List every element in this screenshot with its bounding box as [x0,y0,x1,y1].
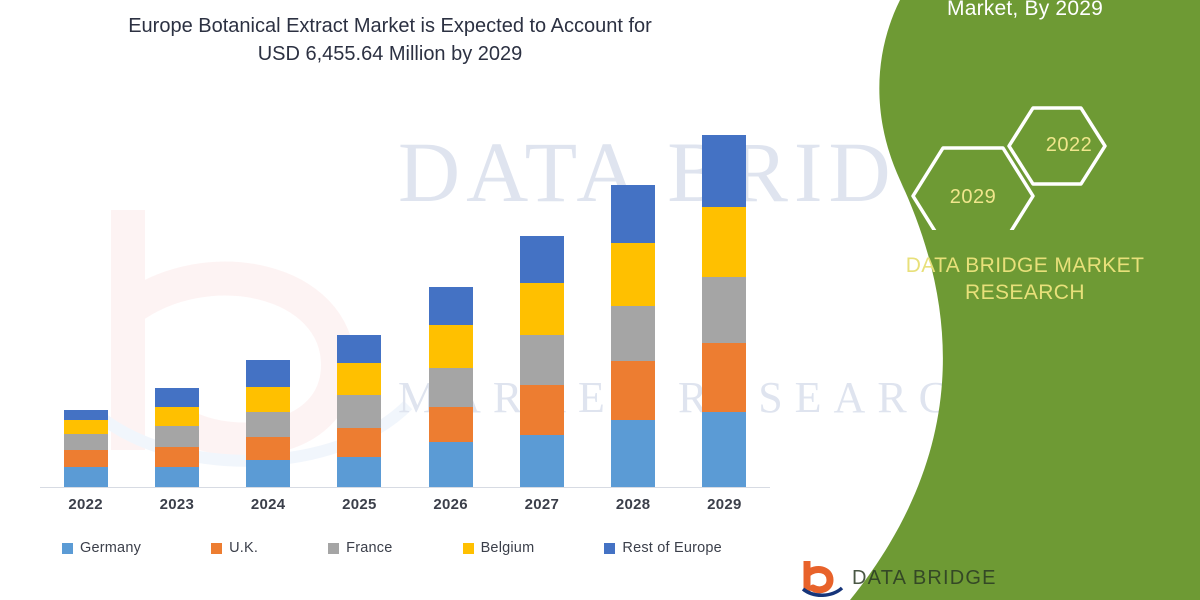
hexagon-2029-label: 2029 [950,186,997,209]
x-axis-label-2027: 2027 [499,496,585,513]
stacked-bar [429,287,473,487]
bar-segment-u-k [155,447,199,467]
stacked-bar [611,185,655,487]
bar-column-2029 [681,110,767,487]
bar-segment-rest-of-europe [337,335,381,363]
legend-item-rest-of-europe[interactable]: Rest of Europe [604,540,722,556]
page-title: Europe Botanical Extract Market is Expec… [40,12,740,68]
bar-segment-belgium [337,363,381,395]
bar-segment-rest-of-europe [702,135,746,207]
bar-segment-germany [611,420,655,487]
bar-segment-u-k [429,407,473,442]
bar-segment-u-k [64,450,108,467]
bar-segment-france [520,335,564,385]
bar-segment-rest-of-europe [520,236,564,283]
bar-segment-germany [429,442,473,487]
bar-segment-rest-of-europe [64,410,108,420]
bar-segment-germany [64,467,108,487]
bar-segment-france [64,434,108,450]
legend-label: France [346,540,392,556]
bar-column-2025 [316,110,402,487]
legend-swatch-icon [211,543,222,554]
bar-segment-u-k [702,343,746,412]
bar-segment-belgium [155,407,199,426]
bar-segment-france [702,277,746,343]
bar-segment-u-k [246,437,290,460]
brand-name-line-2: RESEARCH [860,279,1190,306]
bar-segment-germany [337,457,381,487]
bar-segment-rest-of-europe [155,388,199,407]
brand-name-line-1: DATA BRIDGE MARKET [860,252,1190,279]
bar-segment-u-k [611,361,655,420]
bar-segment-france [429,368,473,407]
bar-segment-u-k [520,385,564,435]
bar-segment-belgium [702,207,746,277]
chart-legend: GermanyU.K.FranceBelgiumRest of Europe [62,540,762,556]
stacked-bar [337,335,381,487]
bar-column-2026 [408,110,494,487]
x-axis-label-2028: 2028 [590,496,676,513]
x-axis-label-2024: 2024 [225,496,311,513]
bar-segment-germany [155,467,199,487]
stacked-bar [520,236,564,487]
x-axis-labels: 20222023202420252026202720282029 [40,496,770,513]
bar-segment-germany [520,435,564,487]
hexagon-year-2022: 2022 [1033,124,1105,166]
legend-item-u-k[interactable]: U.K. [211,540,258,556]
legend-label: U.K. [229,540,258,556]
x-axis-line [40,487,770,488]
bar-column-2027 [499,110,585,487]
bar-segment-rest-of-europe [611,185,655,243]
hexagon-2022-label: 2022 [1046,134,1093,157]
legend-label: Belgium [481,540,535,556]
x-axis-label-2029: 2029 [681,496,767,513]
bar-segment-rest-of-europe [429,287,473,325]
legend-item-france[interactable]: France [328,540,392,556]
data-bridge-logo-text: DATA BRIDGE [852,567,997,590]
bar-segment-belgium [64,420,108,434]
legend-swatch-icon [62,543,73,554]
bar-segment-belgium [429,325,473,368]
bar-segment-belgium [520,283,564,335]
stacked-bar [702,135,746,487]
infographic-root: DATA BRIDGE MARKET RESEARCH Europe Botan… [0,0,1200,600]
bar-segment-germany [246,460,290,487]
bar-segment-france [611,306,655,361]
hexagon-group: 2022 2029 [885,100,1175,230]
bar-segment-belgium [246,387,290,412]
bar-segment-rest-of-europe [246,360,290,387]
bar-column-2023 [134,110,220,487]
x-axis-label-2023: 2023 [134,496,220,513]
stacked-bar [246,360,290,487]
legend-label: Rest of Europe [622,540,722,556]
legend-swatch-icon [604,543,615,554]
x-axis-label-2025: 2025 [316,496,402,513]
bar-column-2024 [225,110,311,487]
stacked-bar [64,410,108,487]
stacked-bar-chart [40,110,770,487]
bar-segment-germany [702,412,746,487]
bar-segment-france [337,395,381,428]
legend-label: Germany [80,540,141,556]
bar-segment-u-k [337,428,381,457]
legend-item-belgium[interactable]: Belgium [463,540,535,556]
x-axis-label-2026: 2026 [408,496,494,513]
legend-swatch-icon [463,543,474,554]
bar-segment-france [246,412,290,437]
bar-segment-belgium [611,243,655,306]
hexagon-year-2029: 2029 [927,174,1019,220]
bar-column-2028 [590,110,676,487]
data-bridge-logo-icon [802,558,844,598]
stacked-bar [155,388,199,487]
x-axis-label-2022: 2022 [43,496,129,513]
data-bridge-logo: DATA BRIDGE [802,558,997,598]
bar-column-2022 [43,110,129,487]
legend-item-germany[interactable]: Germany [62,540,141,556]
bar-segment-france [155,426,199,447]
brand-panel: Market, By 2029 2022 2029 DATA BRIDGE MA… [780,0,1200,600]
legend-swatch-icon [328,543,339,554]
panel-heading: Market, By 2029 [870,0,1180,24]
chart-area: DATA BRIDGE MARKET RESEARCH Europe Botan… [0,0,830,600]
